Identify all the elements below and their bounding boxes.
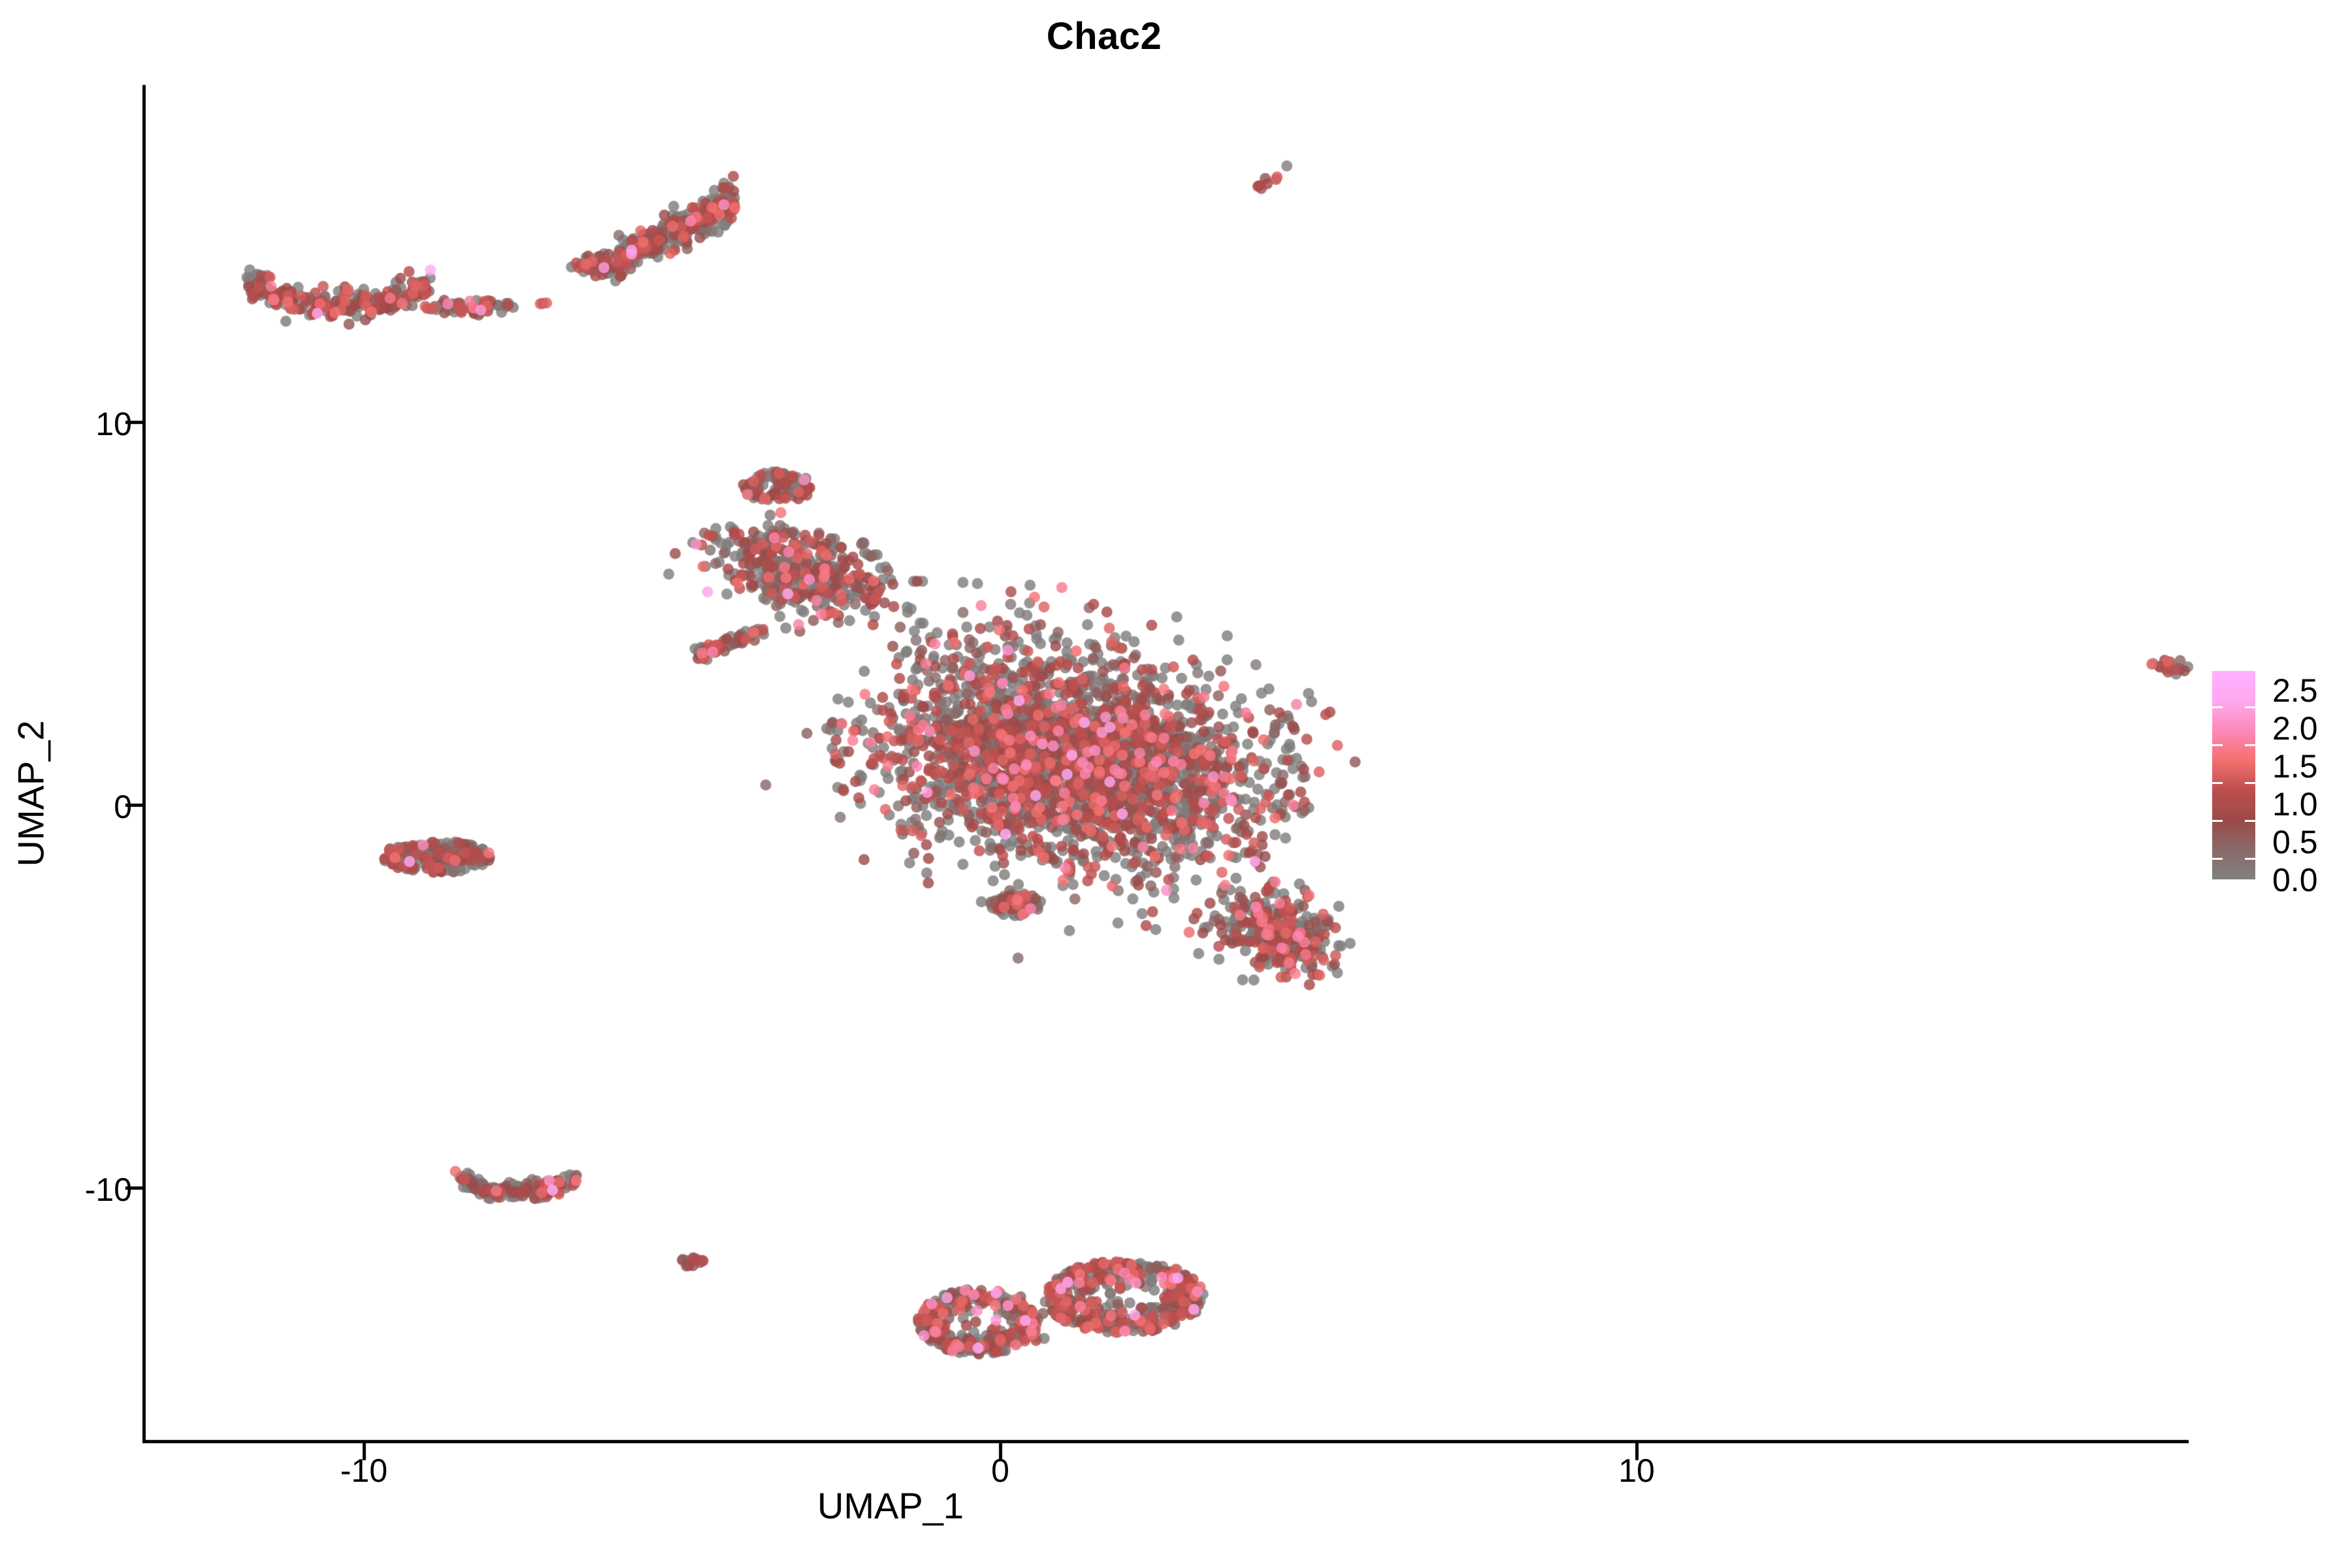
umap-feature-plot: Chac2 UMAP_1 UMAP_2 10 0 -10 -10 0 10 2.…	[0, 0, 2352, 1568]
x-tick-label-0: 0	[935, 1452, 1066, 1490]
x-axis-label: UMAP_1	[142, 1484, 1639, 1527]
legend-label-1_0: 1.0	[2272, 785, 2318, 823]
x-tick-label-10: 10	[1571, 1452, 1702, 1490]
y-tick-label-10: 10	[1, 405, 132, 443]
legend-tick-1_5-left	[2212, 782, 2223, 784]
legend-label-2_0: 2.0	[2272, 710, 2318, 747]
legend-tick-0_5-right	[2245, 858, 2255, 860]
legend-label-0_5: 0.5	[2272, 823, 2318, 861]
legend-gradient	[2212, 671, 2255, 879]
y-tick-label-0: 0	[1, 788, 132, 826]
page-title: Chac2	[0, 14, 2208, 58]
legend-tick-1_5-right	[2245, 782, 2255, 784]
legend-label-0_0: 0.0	[2272, 861, 2318, 899]
legend-tick-2_0-left	[2212, 744, 2223, 746]
legend-label-2_5: 2.5	[2272, 672, 2318, 710]
legend-tick-1_0-left	[2212, 820, 2223, 822]
legend-tick-0_5-left	[2212, 858, 2223, 860]
legend-tick-1_0-right	[2245, 820, 2255, 822]
scatter-plot-canvas	[0, 0, 2352, 1568]
legend-tick-2_5-left	[2212, 706, 2223, 708]
x-tick-label-neg10: -10	[299, 1452, 429, 1490]
legend-tick-2_0-right	[2245, 744, 2255, 746]
legend-label-1_5: 1.5	[2272, 747, 2318, 785]
y-tick-label-neg10: -10	[1, 1171, 132, 1209]
legend-tick-2_5-right	[2245, 706, 2255, 708]
color-legend-bar	[2212, 671, 2255, 879]
